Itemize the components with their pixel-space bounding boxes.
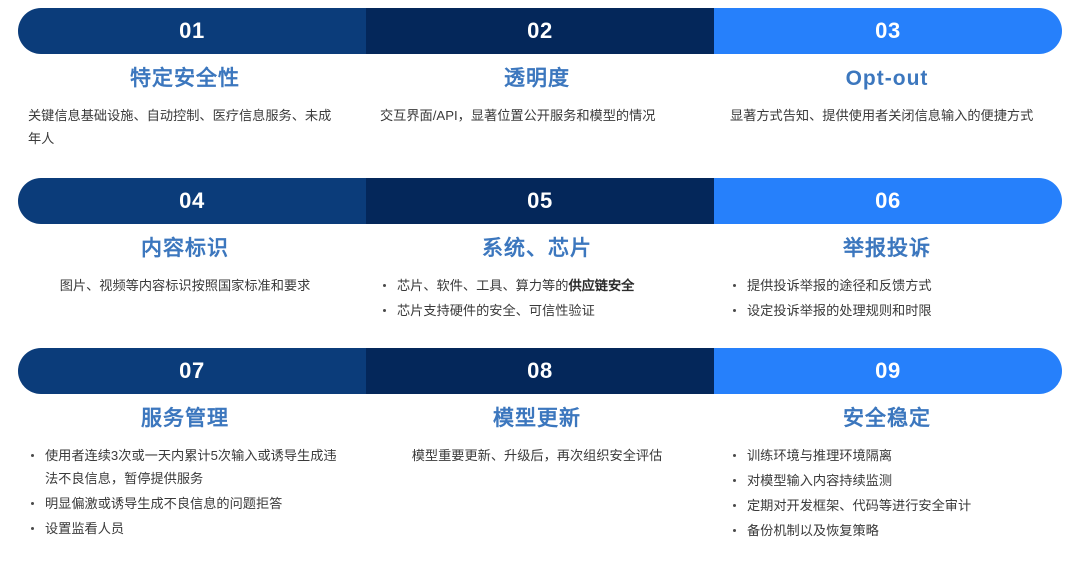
card-05-body: 芯片、软件、工具、算力等的供应链安全芯片支持硬件的安全、可信性验证 — [380, 274, 694, 322]
number-badge-08: 08 — [366, 348, 714, 394]
bullet-item: 芯片、软件、工具、算力等的供应链安全 — [380, 274, 694, 297]
number-badge-06: 06 — [714, 178, 1062, 224]
card-08-title: 模型更新 — [380, 406, 694, 431]
bullet-text: 芯片、软件、工具、算力等的 — [397, 278, 568, 293]
card-04: 内容标识 图片、视频等内容标识按照国家标准和要求 — [18, 224, 366, 324]
card-09: 安全稳定 训练环境与推理环境隔离对模型输入内容持续监测定期对开发框架、代码等进行… — [714, 394, 1062, 545]
card-02-title: 透明度 — [380, 66, 694, 91]
row-3-number-strip: 07 08 09 — [18, 348, 1062, 394]
bullet-item: 明显偏激或诱导生成不良信息的问题拒答 — [28, 492, 342, 515]
row-3-cards: 服务管理 使用者连续3次或一天内累计5次输入或诱导生成违法不良信息，暂停提供服务… — [18, 394, 1062, 545]
bullet-item: 备份机制以及恢复策略 — [730, 519, 1044, 542]
card-07-title: 服务管理 — [28, 406, 342, 431]
bullet-text: 备份机制以及恢复策略 — [747, 523, 879, 538]
card-02-paragraph: 交互界面/API，显著位置公开服务和模型的情况 — [380, 104, 694, 127]
card-05-bullet-list: 芯片、软件、工具、算力等的供应链安全芯片支持硬件的安全、可信性验证 — [380, 274, 694, 322]
card-03-paragraph: 显著方式告知、提供使用者关闭信息输入的便捷方式 — [730, 104, 1044, 127]
bullet-item: 训练环境与推理环境隔离 — [730, 444, 1044, 467]
bullet-text: 提供投诉举报的途径和反馈方式 — [747, 278, 932, 293]
bullet-item: 对模型输入内容持续监测 — [730, 469, 1044, 492]
card-02-body: 交互界面/API，显著位置公开服务和模型的情况 — [380, 104, 694, 127]
bullet-text: 芯片支持硬件的安全、可信性验证 — [397, 303, 595, 318]
bullet-item: 定期对开发框架、代码等进行安全审计 — [730, 494, 1044, 517]
card-06-title: 举报投诉 — [730, 236, 1044, 261]
card-05-title: 系统、芯片 — [380, 236, 694, 261]
card-08: 模型更新 模型重要更新、升级后，再次组织安全评估 — [366, 394, 714, 545]
requirement-row-1: 01 02 03 特定安全性 关键信息基础设施、自动控制、医疗信息服务、未成年人… — [0, 8, 1080, 170]
requirement-row-3: 07 08 09 服务管理 使用者连续3次或一天内累计5次输入或诱导生成违法不良… — [0, 348, 1080, 570]
bullet-item: 设置监看人员 — [28, 517, 342, 540]
number-badge-03: 03 — [714, 8, 1062, 54]
card-02: 透明度 交互界面/API，显著位置公开服务和模型的情况 — [366, 54, 714, 150]
card-08-body: 模型重要更新、升级后，再次组织安全评估 — [380, 444, 694, 467]
card-03-body: 显著方式告知、提供使用者关闭信息输入的便捷方式 — [730, 104, 1044, 127]
card-08-paragraph: 模型重要更新、升级后，再次组织安全评估 — [380, 444, 694, 467]
card-01-title: 特定安全性 — [28, 66, 342, 91]
bullet-text: 训练环境与推理环境隔离 — [747, 448, 892, 463]
card-04-body: 图片、视频等内容标识按照国家标准和要求 — [28, 274, 342, 297]
number-badge-01: 01 — [18, 8, 366, 54]
requirement-row-2: 04 05 06 内容标识 图片、视频等内容标识按照国家标准和要求 系统、芯片 … — [0, 178, 1080, 340]
number-badge-09: 09 — [714, 348, 1062, 394]
row-1-cards: 特定安全性 关键信息基础设施、自动控制、医疗信息服务、未成年人 透明度 交互界面… — [18, 54, 1062, 150]
card-07: 服务管理 使用者连续3次或一天内累计5次输入或诱导生成违法不良信息，暂停提供服务… — [18, 394, 366, 545]
card-03-title: Opt-out — [730, 66, 1044, 91]
card-04-title: 内容标识 — [28, 236, 342, 261]
card-09-title: 安全稳定 — [730, 406, 1044, 431]
card-01-body: 关键信息基础设施、自动控制、医疗信息服务、未成年人 — [28, 104, 342, 150]
row-2-number-strip: 04 05 06 — [18, 178, 1062, 224]
card-09-body: 训练环境与推理环境隔离对模型输入内容持续监测定期对开发框架、代码等进行安全审计备… — [730, 444, 1044, 542]
bullet-item: 提供投诉举报的途径和反馈方式 — [730, 274, 1044, 297]
card-09-bullet-list: 训练环境与推理环境隔离对模型输入内容持续监测定期对开发框架、代码等进行安全审计备… — [730, 444, 1044, 542]
bullet-text: 设置监看人员 — [45, 521, 124, 536]
card-05: 系统、芯片 芯片、软件、工具、算力等的供应链安全芯片支持硬件的安全、可信性验证 — [366, 224, 714, 324]
row-2-cards: 内容标识 图片、视频等内容标识按照国家标准和要求 系统、芯片 芯片、软件、工具、… — [18, 224, 1062, 324]
card-04-paragraph: 图片、视频等内容标识按照国家标准和要求 — [28, 274, 342, 297]
number-badge-07: 07 — [18, 348, 366, 394]
card-01-paragraph: 关键信息基础设施、自动控制、医疗信息服务、未成年人 — [28, 104, 342, 150]
bullet-item: 芯片支持硬件的安全、可信性验证 — [380, 299, 694, 322]
bullet-text-emphasis: 供应链安全 — [568, 278, 634, 293]
bullet-item: 使用者连续3次或一天内累计5次输入或诱导生成违法不良信息，暂停提供服务 — [28, 444, 342, 490]
card-06-bullet-list: 提供投诉举报的途径和反馈方式设定投诉举报的处理规则和时限 — [730, 274, 1044, 322]
number-badge-04: 04 — [18, 178, 366, 224]
card-07-body: 使用者连续3次或一天内累计5次输入或诱导生成违法不良信息，暂停提供服务明显偏激或… — [28, 444, 342, 540]
number-badge-02: 02 — [366, 8, 714, 54]
bullet-text: 定期对开发框架、代码等进行安全审计 — [747, 498, 971, 513]
nine-requirements-infographic: 01 02 03 特定安全性 关键信息基础设施、自动控制、医疗信息服务、未成年人… — [0, 0, 1080, 576]
card-06-body: 提供投诉举报的途径和反馈方式设定投诉举报的处理规则和时限 — [730, 274, 1044, 322]
row-1-number-strip: 01 02 03 — [18, 8, 1062, 54]
card-07-bullet-list: 使用者连续3次或一天内累计5次输入或诱导生成违法不良信息，暂停提供服务明显偏激或… — [28, 444, 342, 540]
bullet-text: 设定投诉举报的处理规则和时限 — [747, 303, 932, 318]
card-01: 特定安全性 关键信息基础设施、自动控制、医疗信息服务、未成年人 — [18, 54, 366, 150]
bullet-item: 设定投诉举报的处理规则和时限 — [730, 299, 1044, 322]
number-badge-05: 05 — [366, 178, 714, 224]
card-06: 举报投诉 提供投诉举报的途径和反馈方式设定投诉举报的处理规则和时限 — [714, 224, 1062, 324]
bullet-text: 对模型输入内容持续监测 — [747, 473, 892, 488]
bullet-text: 明显偏激或诱导生成不良信息的问题拒答 — [45, 496, 282, 511]
bullet-text: 使用者连续3次或一天内累计5次输入或诱导生成违法不良信息，暂停提供服务 — [45, 448, 337, 486]
card-03: Opt-out 显著方式告知、提供使用者关闭信息输入的便捷方式 — [714, 54, 1062, 150]
